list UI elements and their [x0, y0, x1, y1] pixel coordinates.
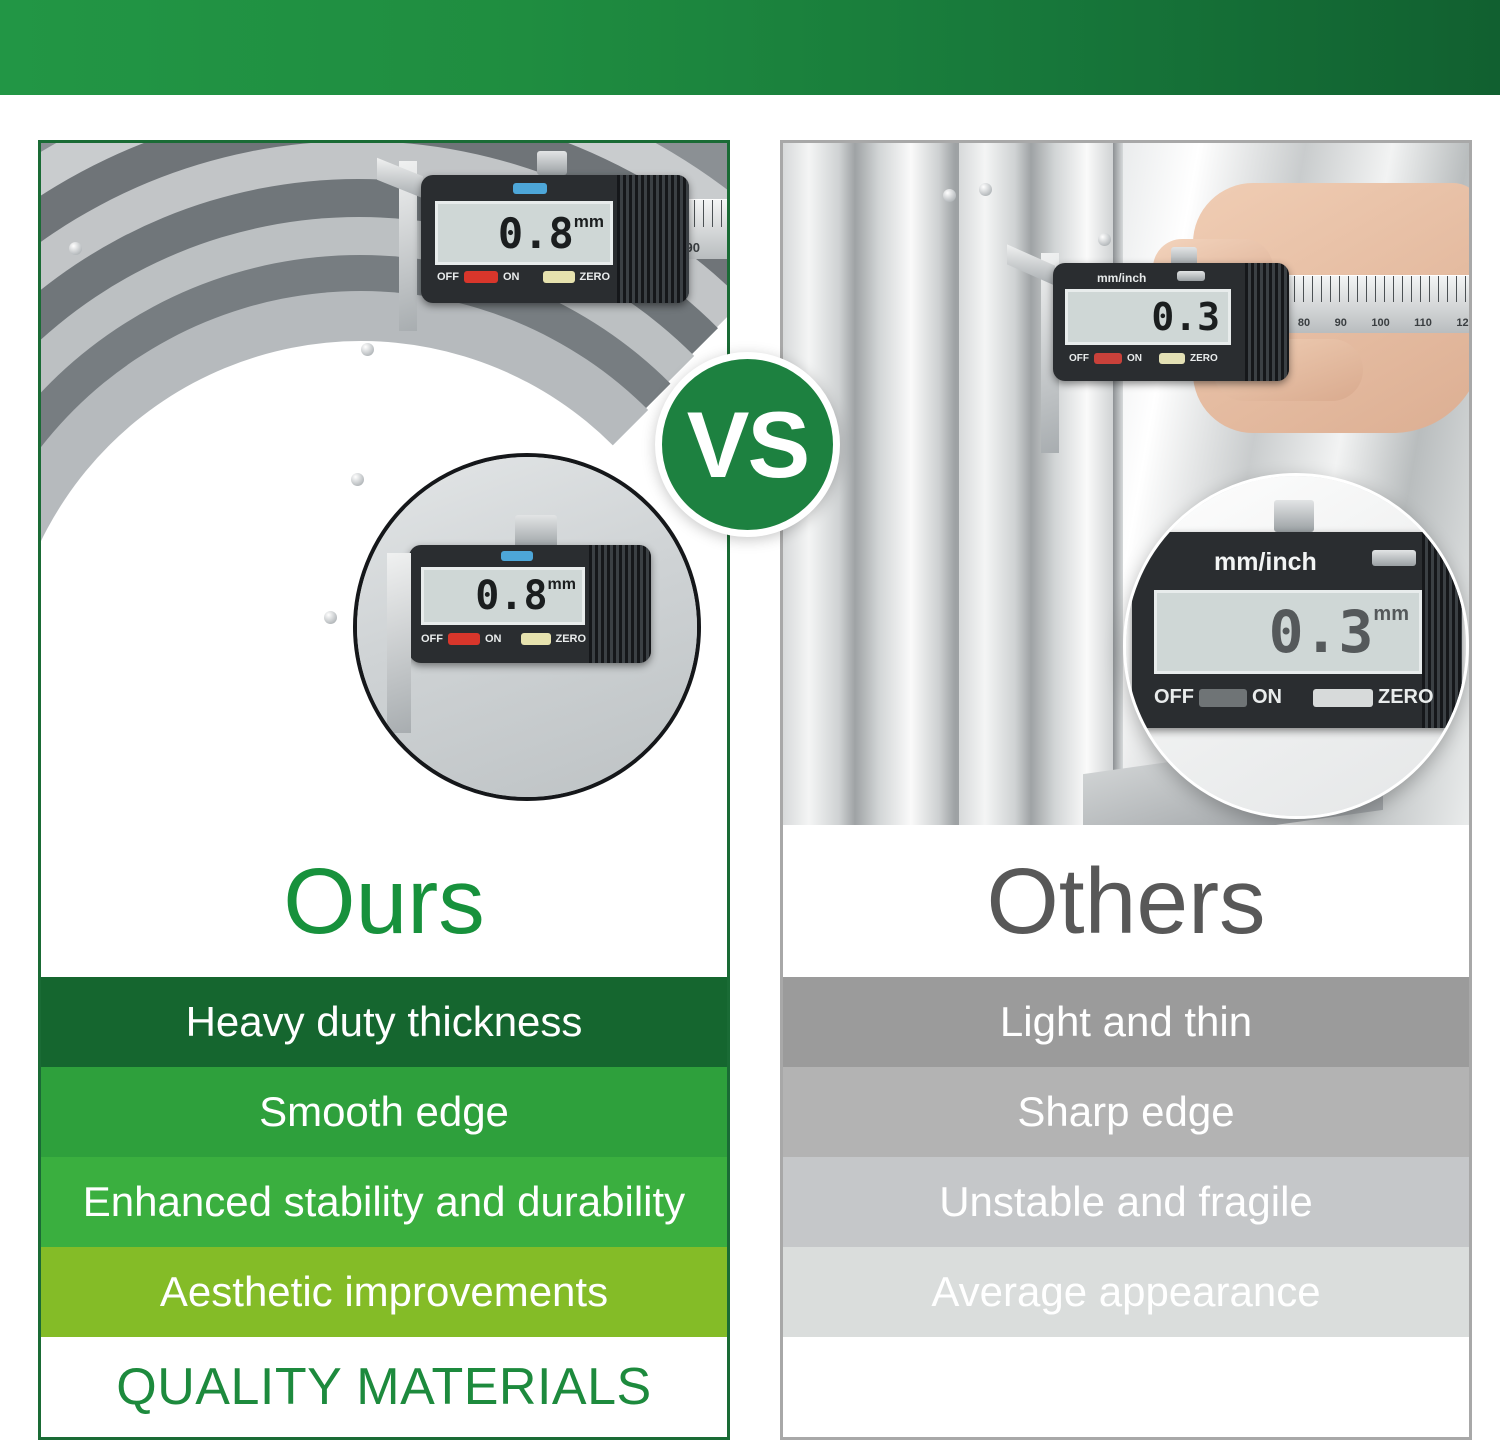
others-feature-row: Light and thin: [783, 977, 1469, 1067]
caliper-zero-label: ZERO: [1190, 353, 1218, 364]
ours-feature-label: Enhanced stability and durability: [83, 1178, 685, 1226]
magnified-caliper-display: 0.8 mm: [421, 567, 585, 625]
ruler-tick-label: 90: [1335, 317, 1347, 329]
zero-button-icon: [521, 633, 551, 645]
ours-feature-row: Smooth edge: [41, 1067, 727, 1157]
caliper-grip: [589, 545, 651, 663]
sheet-edge: [1113, 143, 1123, 825]
magnified-caliper-unit: mm: [1373, 603, 1409, 626]
caliper-off-label: OFF: [437, 271, 459, 283]
ours-feature-row: Enhanced stability and durability: [41, 1157, 727, 1247]
others-title: Others: [986, 855, 1265, 948]
vs-badge: VS: [655, 352, 840, 537]
magnified-caliper-jaw: [387, 553, 411, 733]
ours-feature-label: Smooth edge: [259, 1088, 509, 1136]
caliper-zero-label: ZERO: [556, 633, 587, 645]
magnified-caliper-body: 0.8 mm OFF ON ZERO: [409, 545, 651, 663]
bolt-icon: [361, 343, 374, 356]
others-footer-cell: [783, 1337, 1469, 1437]
ours-feature-label: Heavy duty thickness: [186, 998, 583, 1046]
power-switch-icon: [1094, 353, 1122, 364]
caliper-display: 0.8 mm: [435, 201, 613, 265]
bolt-icon: [1098, 233, 1111, 246]
ours-caliper: 90 100 110 0.8 mm OFF: [377, 161, 717, 331]
others-feature-row: Average appearance: [783, 1247, 1469, 1337]
caliper-body: mm/inch 0.3 OFF ON ZERO: [1053, 263, 1289, 381]
ours-title-cell: Ours: [41, 825, 727, 977]
ours-photo: 90 100 110 0.8 mm OFF: [41, 143, 727, 825]
caliper-buttons: OFF ON ZERO: [437, 271, 610, 283]
caliper-buttons: OFF ON ZERO: [1069, 353, 1218, 364]
ours-feature-row: Aesthetic improvements: [41, 1247, 727, 1337]
caliper-off-label: OFF: [1069, 353, 1089, 364]
magnified-caliper-display: 0.3 mm: [1154, 590, 1422, 674]
quality-materials-label: QUALITY MATERIALS: [116, 1357, 651, 1417]
power-switch-icon: [1199, 689, 1247, 707]
magnified-caliper-reading: 0.8: [475, 573, 547, 619]
power-switch-icon: [464, 271, 498, 283]
caliper-mode-button: [1372, 550, 1416, 566]
caliper-zero-label: ZERO: [580, 271, 611, 283]
ruler-tick-label: 100: [1371, 317, 1389, 329]
magnified-caliper-mode-label: mm/inch: [1214, 548, 1317, 577]
caliper-thumb-screw: [515, 515, 557, 549]
ours-feature-label: Aesthetic improvements: [160, 1268, 608, 1316]
caliper-mode-button: [513, 183, 547, 194]
caliper-off-label: OFF: [1154, 686, 1194, 709]
caliper-on-label: ON: [485, 633, 502, 645]
ruler-tick-label: 80: [1298, 317, 1310, 329]
others-feature-row: Sharp edge: [783, 1067, 1469, 1157]
zero-button-icon: [1313, 689, 1373, 707]
others-magnifier: mm/inch 0.3 mm OFF ON ZERO: [1123, 473, 1469, 819]
bolt-icon: [324, 611, 337, 624]
caliper-thumb-screw: [537, 151, 567, 175]
others-feature-row: Unstable and fragile: [783, 1157, 1469, 1247]
caliper-off-label: OFF: [421, 633, 443, 645]
others-photo: 70 80 90 100 110 120 mm/inch 0.3: [783, 143, 1469, 825]
caliper-unit: mm: [574, 212, 604, 232]
caliper-reading: 0.8: [498, 209, 574, 258]
others-caliper: 70 80 90 100 110 120 mm/inch 0.3: [1001, 253, 1421, 413]
caliper-grip: [617, 175, 689, 303]
caliper-on-label: ON: [503, 271, 520, 283]
vs-label: VS: [687, 391, 808, 499]
ruler-tick-label: 120: [1456, 317, 1469, 329]
power-switch-icon: [448, 633, 480, 645]
magnified-caliper-buttons: OFF ON ZERO: [421, 633, 586, 645]
caliper-on-label: ON: [1252, 686, 1282, 709]
others-feature-label: Average appearance: [931, 1268, 1320, 1316]
zero-button-icon: [543, 271, 575, 283]
magnified-caliper-buttons: OFF ON ZERO: [1154, 686, 1434, 709]
magnified-caliper-unit: mm: [548, 576, 576, 594]
caliper-on-label: ON: [1127, 353, 1142, 364]
magnified-caliper-reading: 0.3: [1269, 598, 1374, 666]
ours-magnifier: 0.8 mm OFF ON ZERO: [353, 453, 701, 801]
comparison-infographic: 90 100 110 0.8 mm OFF: [0, 0, 1500, 1455]
magnified-caliper-body: mm/inch 0.3 mm OFF ON ZERO: [1132, 532, 1462, 728]
zero-button-icon: [1159, 353, 1185, 364]
bolt-icon: [979, 183, 992, 196]
ours-title: Ours: [283, 855, 485, 948]
caliper-display: 0.3: [1065, 289, 1231, 345]
caliper-reading: 0.3: [1151, 295, 1220, 339]
top-green-banner: [0, 0, 1500, 95]
ours-footer-cell: QUALITY MATERIALS: [41, 1337, 727, 1437]
caliper-zero-label: ZERO: [1378, 686, 1434, 709]
others-feature-label: Sharp edge: [1017, 1088, 1234, 1136]
ruler-tick-label: 110: [1414, 317, 1432, 329]
caliper-mode-button: [501, 551, 533, 561]
others-feature-label: Light and thin: [1000, 998, 1252, 1046]
caliper-grip: [1245, 263, 1289, 381]
others-panel: 70 80 90 100 110 120 mm/inch 0.3: [780, 140, 1472, 1440]
ours-feature-row: Heavy duty thickness: [41, 977, 727, 1067]
others-feature-label: Unstable and fragile: [939, 1178, 1313, 1226]
caliper-mode-label: mm/inch: [1097, 271, 1146, 285]
caliper-thumb-screw: [1274, 500, 1314, 532]
bolt-icon: [943, 189, 956, 202]
ours-panel: 90 100 110 0.8 mm OFF: [38, 140, 730, 1440]
caliper-mode-button: [1177, 271, 1205, 281]
others-title-cell: Others: [783, 825, 1469, 977]
caliper-body: 0.8 mm OFF ON ZERO: [421, 175, 689, 303]
bolt-icon: [69, 242, 82, 255]
